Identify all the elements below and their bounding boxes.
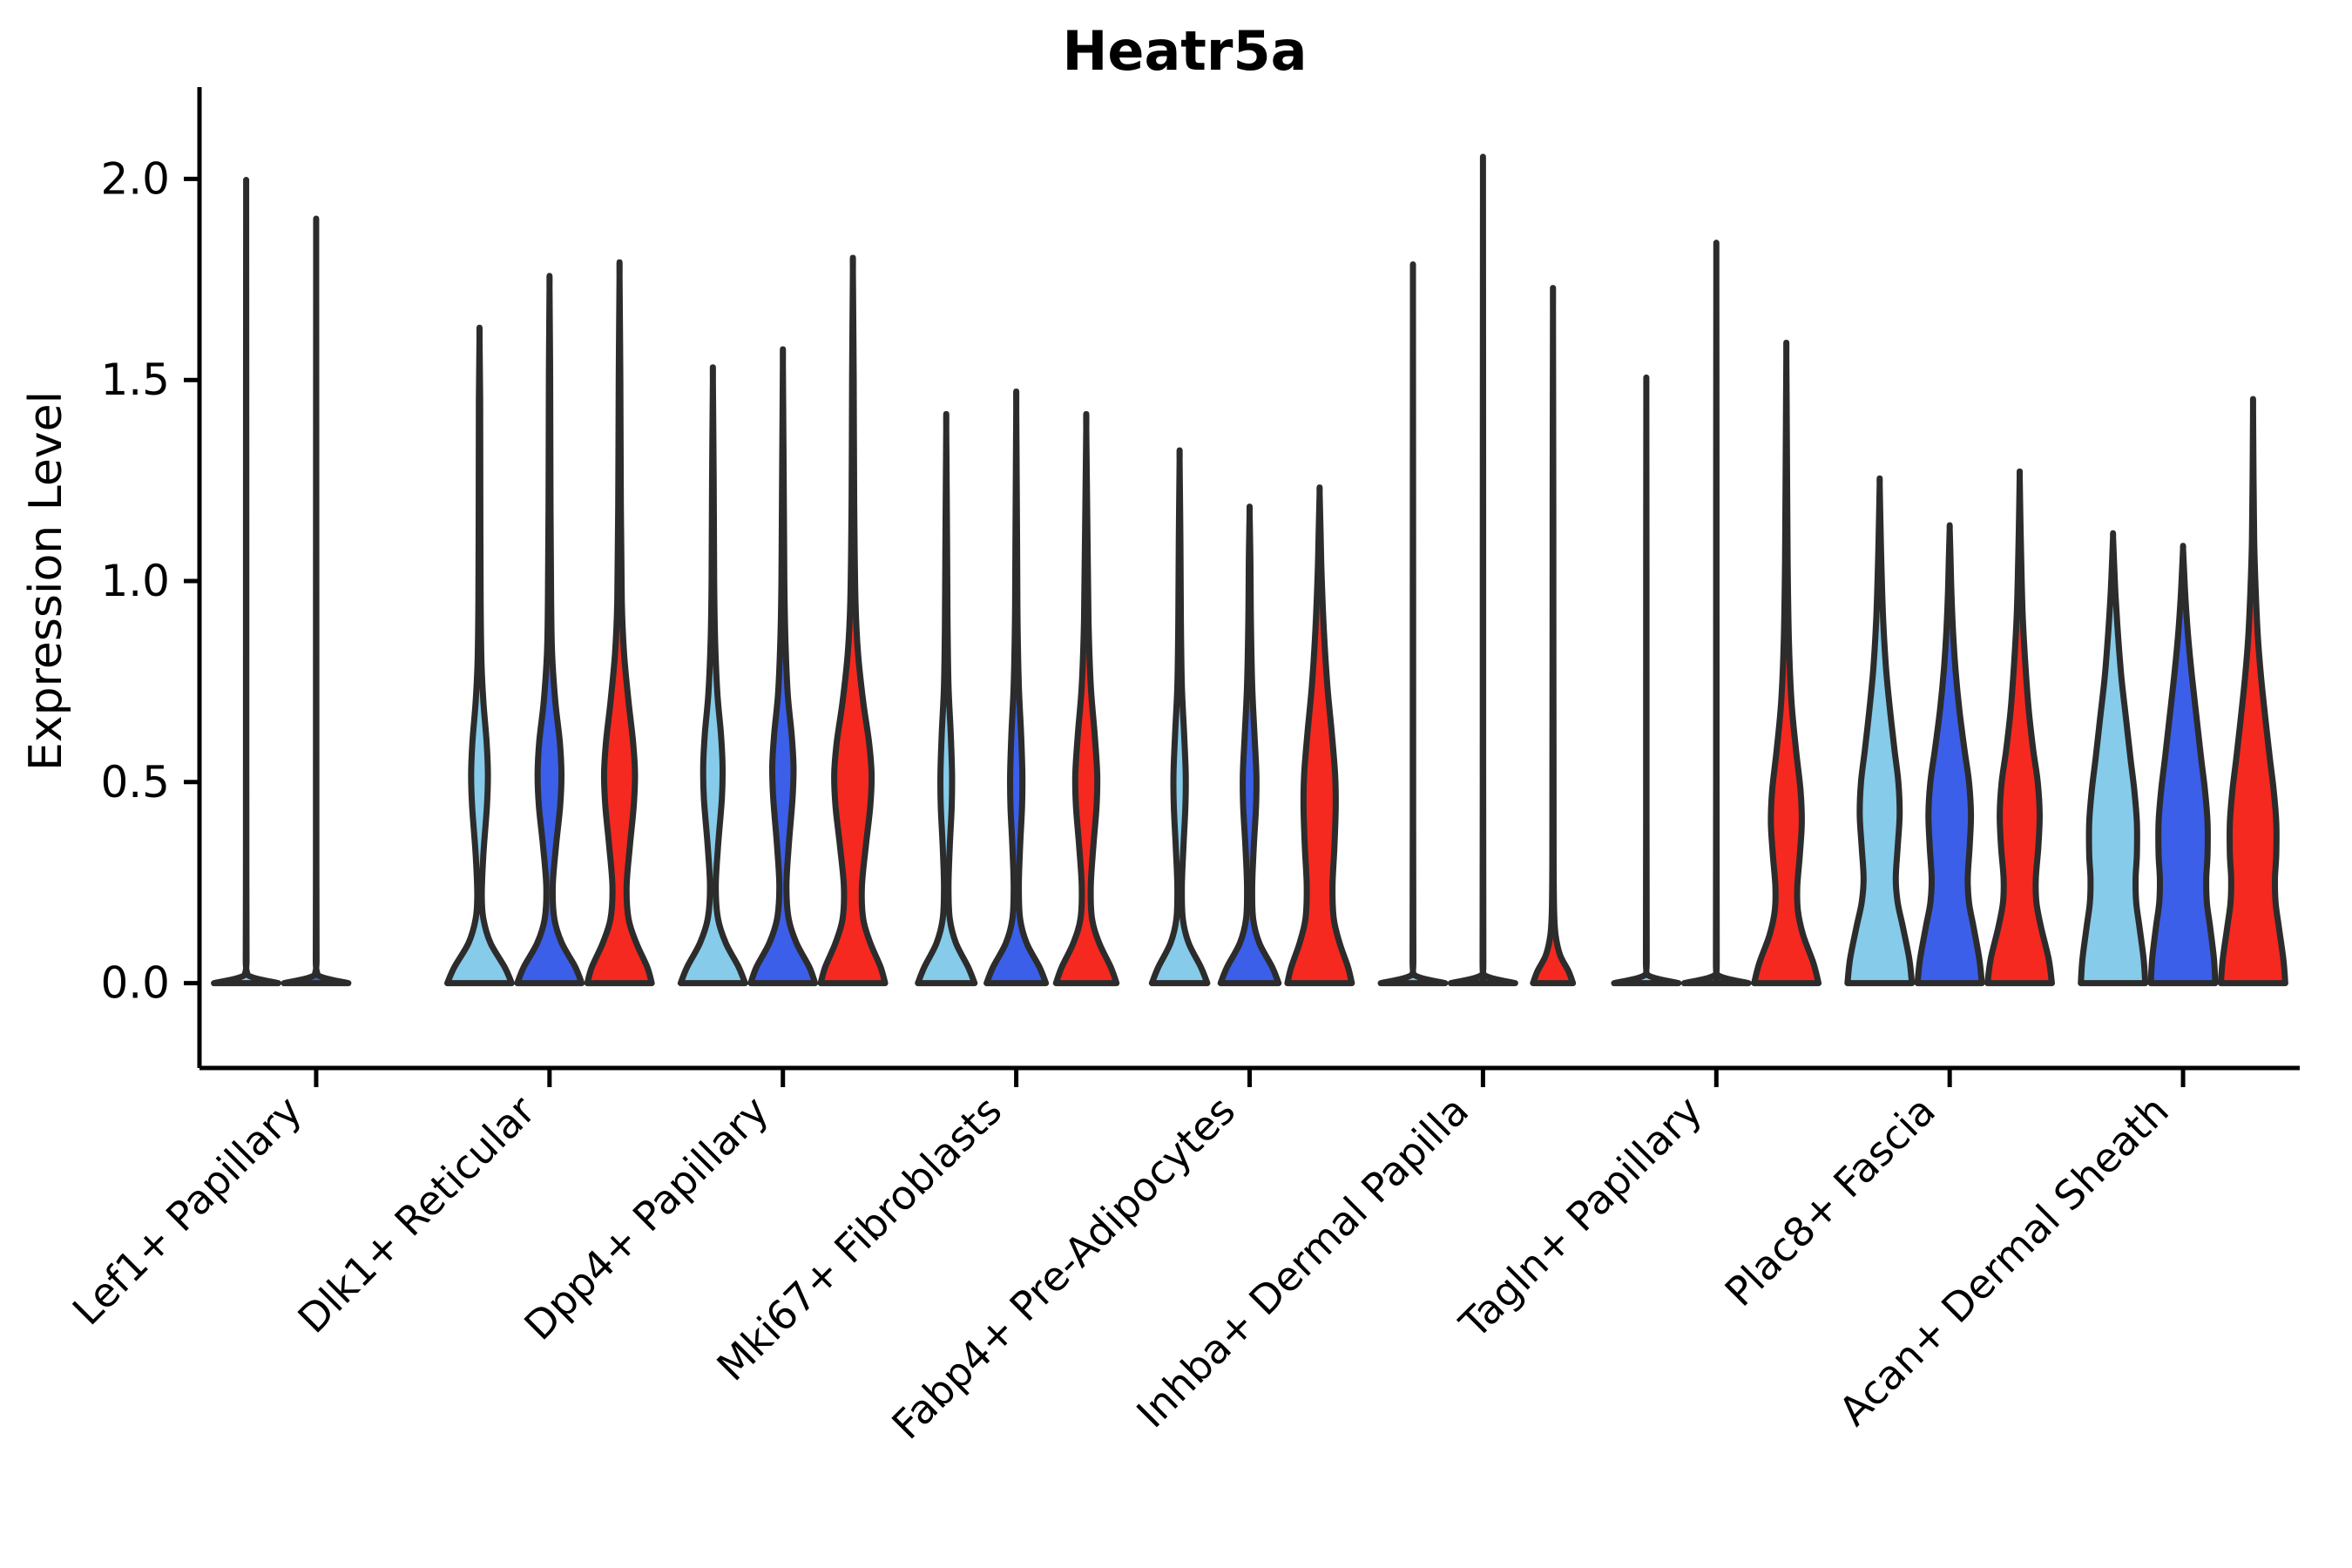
violin-plot-figure: 0.00.51.01.52.0 Lef1+ PapillaryDlk1+ Ret…: [0, 0, 2352, 1568]
chart-canvas: 0.00.51.01.52.0 Lef1+ PapillaryDlk1+ Ret…: [0, 0, 2352, 1568]
y-tick-label-0: 0.0: [100, 958, 170, 1009]
y-tick-label-4: 2.0: [100, 153, 170, 204]
y-tick-label-2: 1.0: [100, 556, 170, 606]
y-tick-label-1: 0.5: [100, 757, 170, 808]
chart-title: Heatr5a: [1063, 19, 1308, 83]
y-axis-title: Expression Level: [20, 391, 72, 771]
y-tick-label-3: 1.5: [100, 355, 170, 405]
